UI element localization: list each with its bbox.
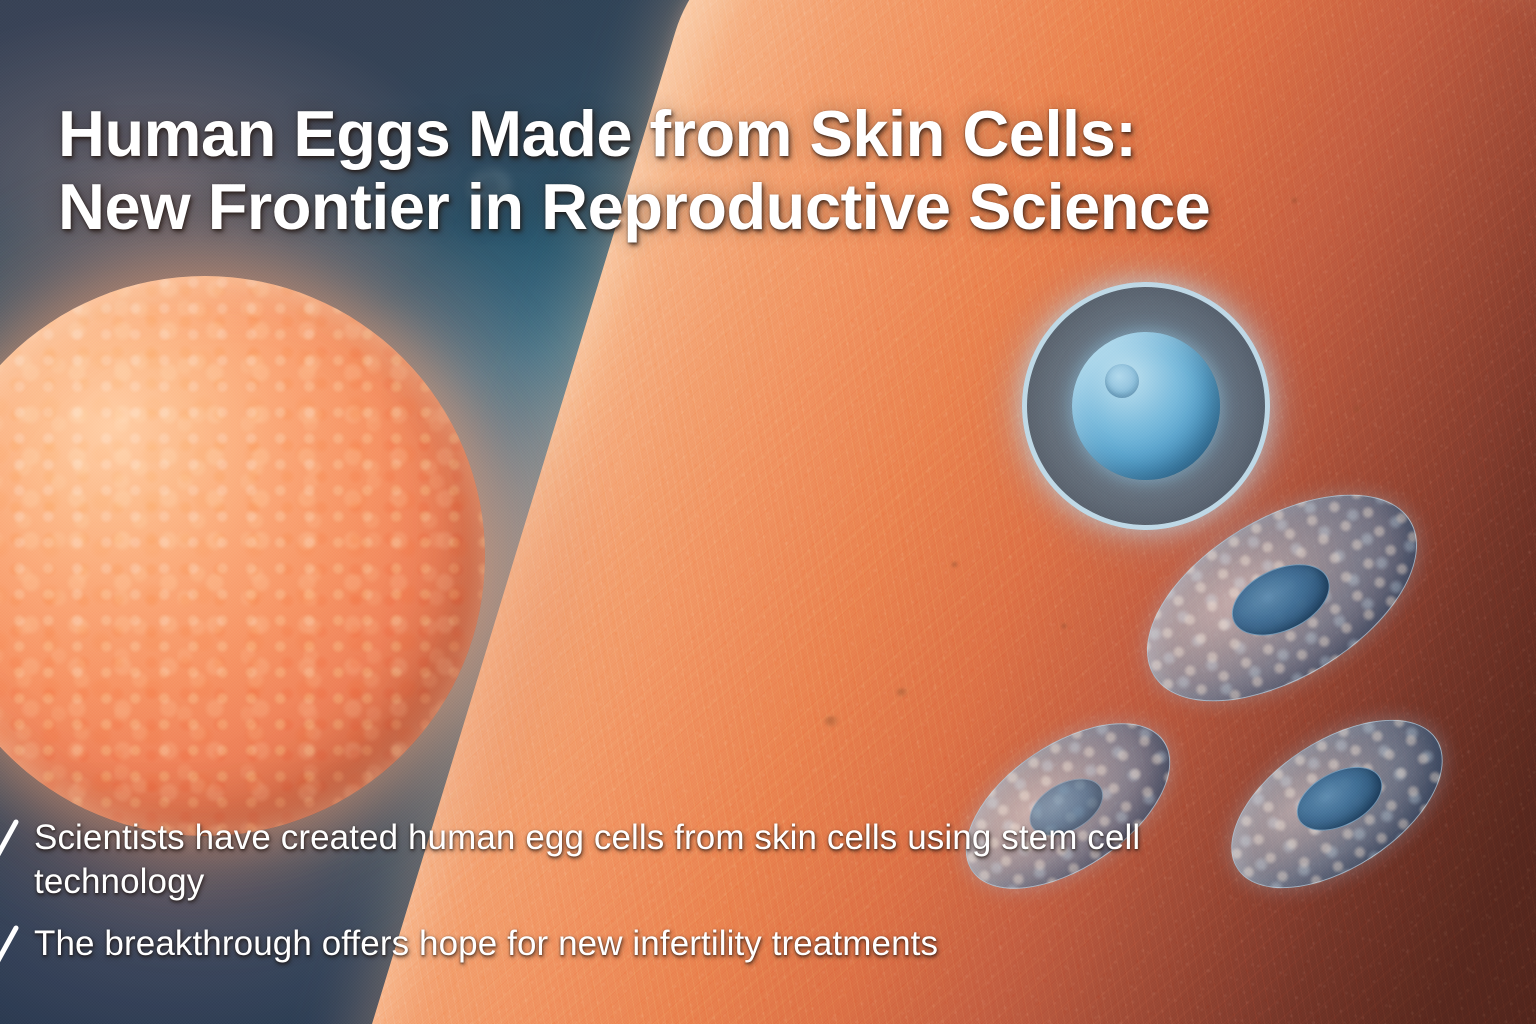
stem-cell-nucleus — [1072, 332, 1220, 480]
skin-freckle — [824, 716, 840, 727]
skin-pore — [950, 560, 959, 569]
skin-freckle — [896, 688, 909, 697]
list-item-label: Scientists have created human egg cells … — [34, 816, 1246, 904]
poster-canvas: Human Eggs Made from Skin Cells: New Fro… — [0, 0, 1536, 1024]
skin-pore — [1352, 404, 1362, 414]
check-icon — [0, 930, 20, 970]
skin-pore — [1060, 622, 1068, 630]
page-title: Human Eggs Made from Skin Cells: New Fro… — [58, 98, 1458, 244]
list-item: The breakthrough offers hope for new inf… — [0, 922, 1246, 970]
stem-cell — [1022, 282, 1270, 530]
list-item-label: The breakthrough offers hope for new inf… — [34, 922, 938, 966]
key-points-list: Scientists have created human egg cells … — [0, 816, 1246, 970]
check-icon — [0, 824, 20, 864]
stem-cell-nucleolus — [1105, 364, 1139, 398]
list-item: Scientists have created human egg cells … — [0, 816, 1246, 904]
egg-cell — [0, 276, 485, 836]
